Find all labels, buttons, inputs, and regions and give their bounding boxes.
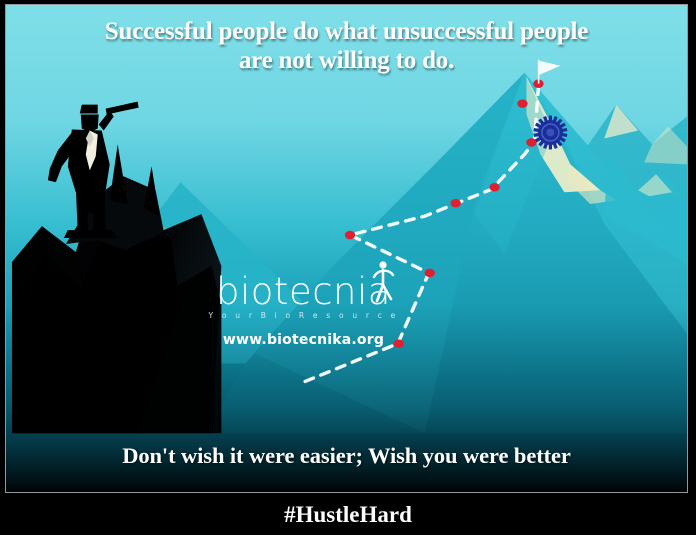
logo-wordmark: biotecni a: [186, 273, 421, 310]
quote-text: Don't wish it were easier; Wish you were…: [122, 443, 571, 469]
person-figure-icon: [370, 257, 396, 303]
logo-word-part1: biotecni: [216, 270, 368, 313]
hashtag-text: #HustleHard: [284, 502, 412, 528]
logo-url[interactable]: www.biotecnika.org: [186, 332, 421, 348]
quote-band: Don't wish it were easier; Wish you were…: [6, 420, 687, 492]
logo-k-glyph: a: [368, 273, 391, 310]
scene-svg: [6, 5, 687, 492]
mountain-scene: [6, 5, 687, 492]
red-dot-marker: [489, 183, 499, 192]
poster-root: Successful people do what unsuccessful p…: [0, 0, 696, 535]
red-dot-marker: [345, 231, 355, 240]
gear-emblem-icon: [533, 116, 567, 150]
red-dot-marker: [450, 199, 460, 208]
hashtag-band: #HustleHard: [0, 494, 696, 535]
red-dot-marker: [517, 99, 527, 108]
red-dot-marker: [425, 269, 435, 278]
red-dot-marker: [526, 138, 536, 147]
brand-logo[interactable]: biotecni a Y o u r B i o R e s o u r c e…: [186, 273, 421, 348]
artwork-frame: Successful people do what unsuccessful p…: [5, 4, 688, 493]
